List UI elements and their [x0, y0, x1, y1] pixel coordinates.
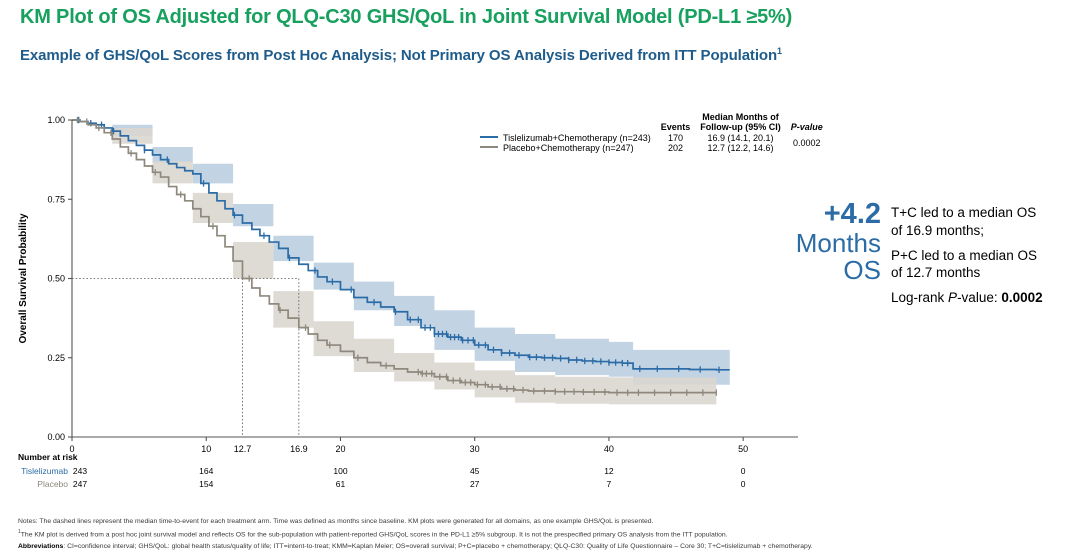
callout-pc-line2: of 12.7 months — [891, 265, 980, 280]
logrank-value: 0.0002 — [1001, 290, 1042, 305]
x-tick-label-5: 50 — [738, 444, 748, 454]
x-median-tick-label-0: 12.7 — [234, 444, 252, 454]
legend-header-blank — [478, 112, 656, 133]
legend-header-events: Events — [656, 112, 696, 133]
callout-unit: Months — [795, 230, 881, 256]
number-at-risk-cell: 12 — [604, 466, 613, 476]
number-at-risk-cell: 7 — [607, 479, 612, 489]
y-axis-title: Overall Survival Probability — [18, 213, 29, 343]
os-benefit-callout: +4.2 Months OS T+C led to a median OS of… — [795, 200, 1080, 307]
legend-table: Events Median Months of Follow-up (95% C… — [478, 112, 828, 153]
x-tick-label-2: 20 — [335, 444, 345, 454]
x-tick-label-4: 40 — [604, 444, 614, 454]
legend-pvalue: 0.0002 — [786, 133, 828, 153]
y-tick-label-3: 0.75 — [47, 194, 65, 204]
callout-body: T+C led to a median OS of 16.9 months; P… — [891, 200, 1043, 307]
callout-tc-line1: T+C led to a median OS — [891, 205, 1036, 220]
legend-line-swatch-blue — [480, 136, 498, 138]
number-at-risk-cell: 247 — [73, 479, 87, 489]
number-at-risk-cell: 164 — [199, 466, 213, 476]
arm-name-0: Tislelizumab — [21, 466, 68, 476]
legend-header-median-followup: Median Months of Follow-up (95% CI) — [695, 112, 786, 133]
page-subtitle: Example of GHS/QoL Scores from Post Hoc … — [20, 46, 1060, 64]
footnotes: Notes: The dashed lines represent the me… — [18, 516, 1068, 553]
number-at-risk-cell: 243 — [73, 466, 87, 476]
legend-label-tislelizumab: Tislelizumab+Chemotherapy (n=243) — [478, 133, 656, 143]
legend-label-placebo: Placebo+Chemotherapy (n=247) — [478, 143, 656, 153]
chart-legend: Events Median Months of Follow-up (95% C… — [478, 112, 828, 153]
legend-label-text-placebo: Placebo+Chemotherapy (n=247) — [503, 143, 634, 153]
y-tick-label-4: 1.00 — [47, 115, 65, 125]
subtitle-footnote-marker: 1 — [777, 46, 782, 56]
number-at-risk-header: Number at risk — [18, 452, 78, 462]
footnote-km-derivation: 1The KM plot is derived from a post hoc … — [18, 528, 1068, 541]
footnote-notes: Notes: The dashed lines represent the me… — [18, 516, 1068, 528]
arm-name-1: Placebo — [37, 479, 68, 489]
x-tick-label-3: 30 — [470, 444, 480, 454]
legend-median-placebo: 12.7 (12.2, 14.6) — [695, 143, 786, 153]
footnote-abbreviations: Abbreviations: CI=confidence interval; G… — [18, 541, 1068, 553]
legend-events-tislelizumab: 170 — [656, 133, 696, 143]
number-at-risk-arm-label-1: Placebo — [0, 479, 68, 489]
footnote-km-derivation-text: The KM plot is derived from a post hoc j… — [21, 531, 728, 538]
legend-events-placebo: 202 — [656, 143, 696, 153]
legend-header-row: Events Median Months of Follow-up (95% C… — [478, 112, 828, 133]
number-at-risk-cell: 100 — [333, 466, 347, 476]
x-tick-label-1: 10 — [201, 444, 211, 454]
y-tick-label-2: 0.50 — [47, 274, 65, 284]
number-at-risk-arm-label-0: Tislelizumab — [0, 466, 68, 476]
callout-logrank: Log-rank P-value: 0.0002 — [891, 289, 1043, 307]
legend-median-tislelizumab: 16.9 (14.1, 20.1) — [695, 133, 786, 143]
callout-value: +4.2 — [795, 200, 881, 229]
number-at-risk-cell: 45 — [470, 466, 479, 476]
logrank-prefix: Log-rank — [891, 290, 948, 305]
x-median-tick-label-1: 16.9 — [290, 444, 308, 454]
legend-line-swatch-gray — [480, 146, 498, 148]
footnote-abbreviations-text: : CI=confidence interval; GHS/QoL: globa… — [63, 543, 812, 550]
number-at-risk-cell: 27 — [470, 479, 479, 489]
legend-row-placebo: Placebo+Chemotherapy (n=247) 202 12.7 (1… — [478, 143, 828, 153]
callout-pc-line1: P+C led to a median OS — [891, 248, 1037, 263]
footnote-abbreviations-label: Abbreviations — [18, 543, 63, 550]
y-tick-label-1: 0.25 — [47, 353, 65, 363]
callout-headline: +4.2 Months OS — [795, 200, 881, 307]
legend-header-pvalue: P-value — [786, 112, 828, 133]
number-at-risk-cell: 0 — [741, 466, 746, 476]
y-tick-label-0: 0.00 — [47, 432, 65, 442]
callout-tc-line2: of 16.9 months; — [891, 223, 984, 238]
number-at-risk-cell: 0 — [741, 479, 746, 489]
number-at-risk-cell: 61 — [336, 479, 345, 489]
legend-row-tislelizumab: Tislelizumab+Chemotherapy (n=243) 170 16… — [478, 133, 828, 143]
legend-header-median-line1: Median Months of — [702, 112, 779, 122]
callout-metric: OS — [795, 257, 881, 283]
logrank-mid: -value: — [957, 290, 1001, 305]
page-title: KM Plot of OS Adjusted for QLQ-C30 GHS/Q… — [20, 6, 1060, 29]
legend-header-median-line2: Follow-up (95% CI) — [700, 122, 781, 132]
page-subtitle-text: Example of GHS/QoL Scores from Post Hoc … — [20, 47, 777, 64]
ci-band-0 — [72, 120, 730, 385]
legend-label-text-tislelizumab: Tislelizumab+Chemotherapy (n=243) — [503, 133, 651, 143]
callout-tc-statement: T+C led to a median OS of 16.9 months; — [891, 204, 1043, 240]
callout-pc-statement: P+C led to a median OS of 12.7 months — [891, 247, 1043, 283]
logrank-p-italic: P — [948, 290, 957, 305]
number-at-risk-cell: 154 — [199, 479, 213, 489]
